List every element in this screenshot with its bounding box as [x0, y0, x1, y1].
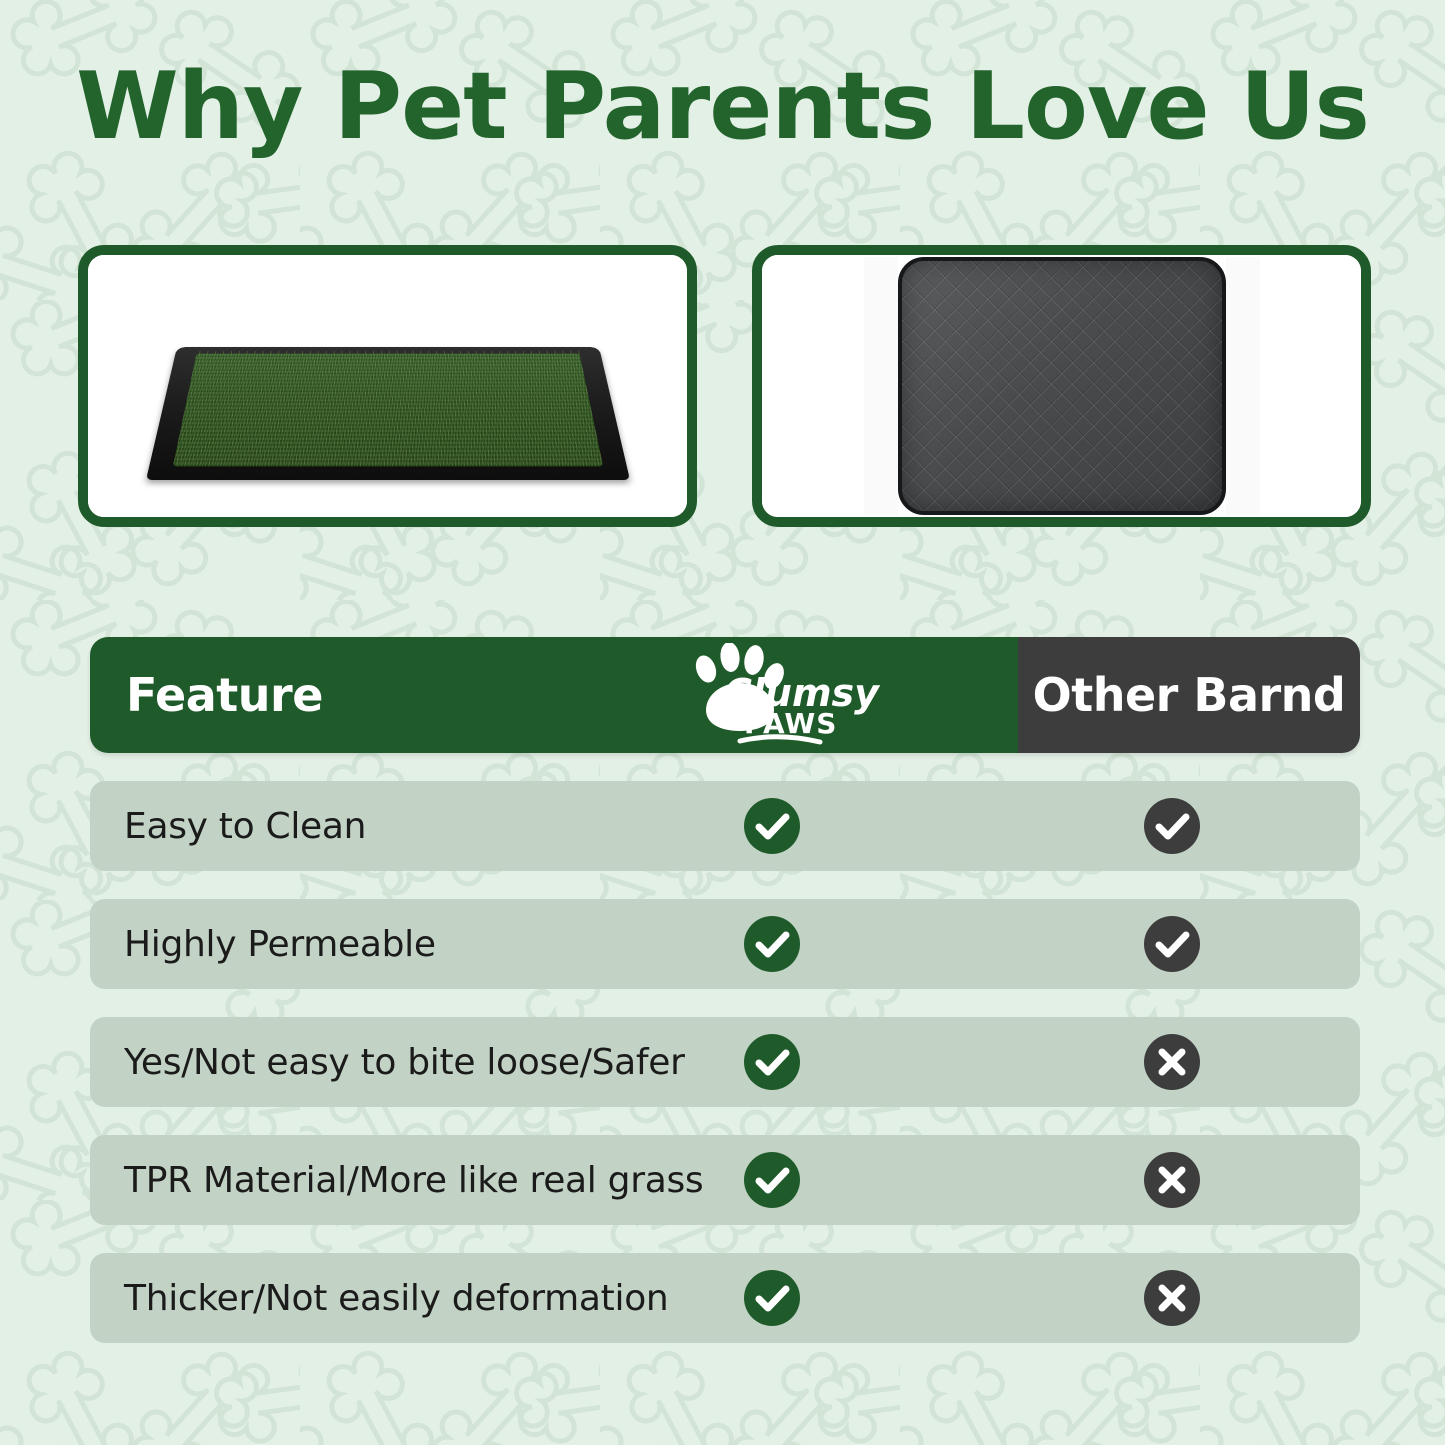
- table-row: Highly Permeable: [90, 899, 1360, 989]
- tray-base: [146, 347, 630, 480]
- table-header-other-brand-cell: Other Barnd: [1018, 637, 1360, 753]
- ours-check-icon: [742, 914, 802, 974]
- other-check-icon: [1142, 914, 1202, 974]
- page-title: Why Pet Parents Love Us: [0, 58, 1445, 156]
- feature-label: Easy to Clean: [124, 806, 366, 847]
- grass-surface: [172, 354, 602, 467]
- ours-check-icon: [742, 1150, 802, 1210]
- ours-check-icon: [742, 796, 802, 856]
- feature-label: Thicker/Not easily deformation: [124, 1278, 668, 1319]
- table-header-row: Feature Clumsy PAWS: [90, 637, 1360, 753]
- table-row: Thicker/Not easily deformation: [90, 1253, 1360, 1343]
- product-card-quilted-pad: [752, 245, 1371, 527]
- comparison-table: Feature Clumsy PAWS: [90, 637, 1360, 1343]
- feature-label: Yes/Not easy to bite loose/Safer: [124, 1042, 685, 1083]
- clumsy-paws-logo: Clumsy PAWS: [682, 643, 882, 747]
- product-image-grass-tray: [88, 255, 687, 517]
- feature-label: Highly Permeable: [124, 924, 436, 965]
- pad-backdrop-right: [1226, 257, 1260, 515]
- pad-backdrop-left: [864, 257, 898, 515]
- table-header-other-brand-label: Other Barnd: [1033, 668, 1346, 722]
- ours-check-icon: [742, 1268, 802, 1328]
- table-header-feature-cell: Feature Clumsy PAWS: [90, 637, 1018, 753]
- other-check-icon: [1142, 796, 1202, 856]
- grass-tray-illustration: [138, 286, 638, 486]
- pad-surface: [898, 257, 1226, 515]
- other-cross-icon: [1142, 1150, 1202, 1210]
- table-row: TPR Material/More like real grass: [90, 1135, 1360, 1225]
- quilted-pad-illustration: [898, 257, 1226, 515]
- product-image-row: [78, 245, 1370, 527]
- feature-label: TPR Material/More like real grass: [124, 1160, 703, 1201]
- table-body: Easy to CleanHighly PermeableYes/Not eas…: [90, 781, 1360, 1343]
- product-card-grass-tray: [78, 245, 697, 527]
- other-cross-icon: [1142, 1032, 1202, 1092]
- table-row: Yes/Not easy to bite loose/Safer: [90, 1017, 1360, 1107]
- infographic-page: Why Pet Parents Love Us: [0, 0, 1445, 1445]
- table-header-feature-label: Feature: [126, 668, 323, 722]
- table-row: Easy to Clean: [90, 781, 1360, 871]
- product-image-quilted-pad: [762, 255, 1361, 517]
- other-cross-icon: [1142, 1268, 1202, 1328]
- ours-check-icon: [742, 1032, 802, 1092]
